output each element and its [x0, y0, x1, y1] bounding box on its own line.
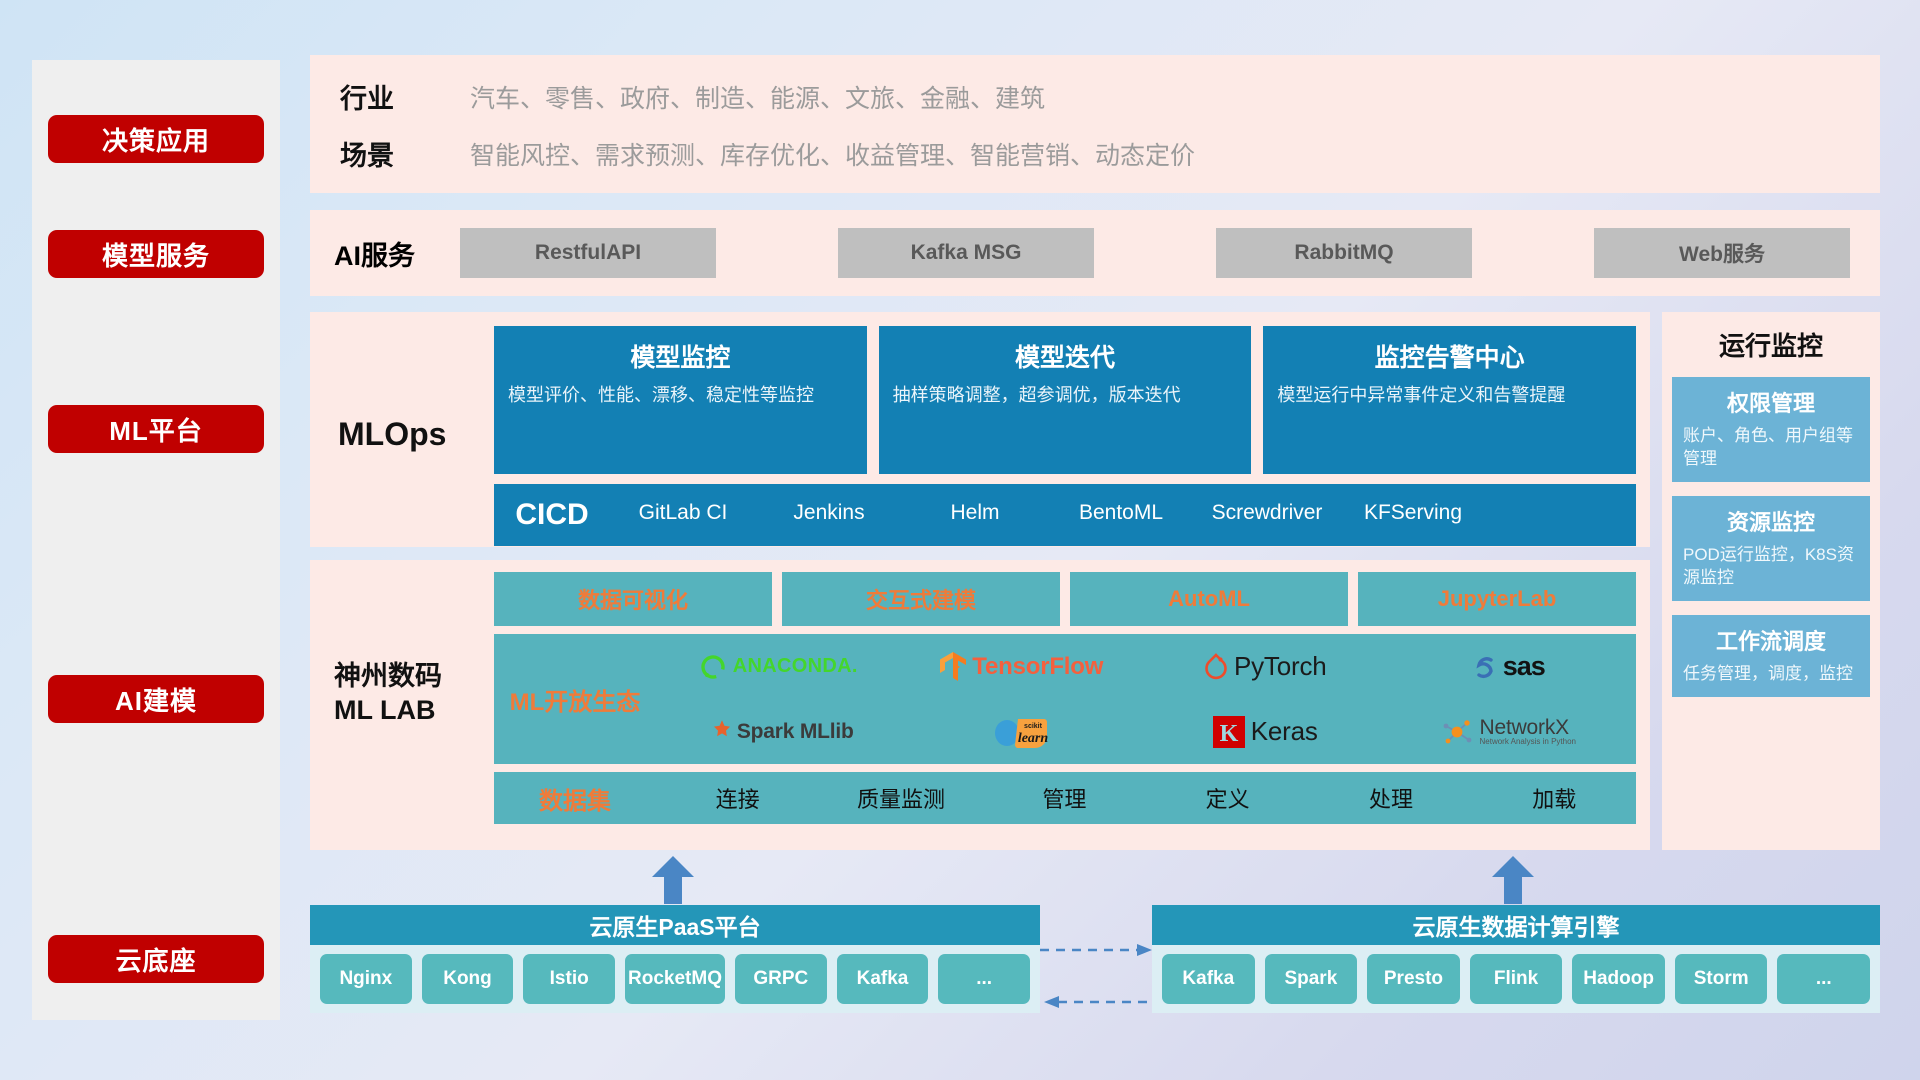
anaconda-logo: ANACONDA. [698, 652, 858, 682]
networkx-logo-text: NetworkX [1480, 717, 1577, 738]
cloud-native-data-engine-title: 云原生数据计算引擎 [1152, 905, 1880, 945]
mlops-card-model-monitoring[interactable]: 模型监控 模型评价、性能、漂移、稳定性等监控 [494, 326, 867, 474]
ecosystem-logo-grid: ANACONDA. TensorFlow [656, 634, 1636, 764]
monitoring-card-desc: 任务管理，调度，监控 [1683, 663, 1859, 686]
stage-chip-label: 模型服务 [102, 236, 210, 273]
cicd-bar: CICD GitLab CI Jenkins Helm BentoML Scre… [494, 484, 1636, 546]
mlops-card-desc: 模型运行中异常事件定义和告警提醒 [1277, 383, 1622, 407]
dataset-item-define[interactable]: 定义 [1146, 782, 1309, 814]
tool-chip-jupyterlab[interactable]: JupyterLab [1358, 572, 1636, 626]
monitoring-card-desc: 账户、角色、用户组等管理 [1683, 425, 1859, 471]
mlops-card-title: 模型监控 [508, 338, 853, 374]
mlops-card-list: 模型监控 模型评价、性能、漂移、稳定性等监控 模型迭代 抽样策略调整，超参调优，… [494, 326, 1636, 474]
monitoring-card-title: 权限管理 [1683, 386, 1859, 418]
stage-chip-ml-platform[interactable]: ML平台 [48, 405, 264, 453]
spark-mllib-logo-text: Spark MLlib [737, 720, 854, 744]
ai-service-panel: AI服务 RestfulAPI Kafka MSG RabbitMQ Web服务 [310, 210, 1880, 296]
architecture-diagram: 决策应用 模型服务 ML平台 AI建模 云底座 行业 汽车、零售、政府、制造、能… [0, 0, 1920, 1080]
stage-chip-cloud-base[interactable]: 云底座 [48, 935, 264, 983]
ai-service-restfulapi[interactable]: RestfulAPI [460, 228, 716, 278]
tensorflow-logo: TensorFlow [939, 651, 1103, 683]
monitoring-card-desc: POD运行监控，K8S资源监控 [1683, 544, 1859, 590]
cloud-chip-more[interactable]: ... [938, 954, 1030, 1004]
cloud-native-data-engine-chip-list: Kafka Spark Presto Flink Hadoop Storm ..… [1152, 945, 1880, 1013]
scenario-row: 场景 智能风控、需求预测、库存优化、收益管理、智能营销、动态定价 [340, 134, 1195, 173]
dashed-arrow-left-icon [1040, 992, 1156, 1012]
tool-chip-interactive-modeling[interactable]: 交互式建模 [782, 572, 1060, 626]
cloud-chip-grpc[interactable]: GRPC [735, 954, 827, 1004]
stage-chip-label: AI建模 [115, 681, 197, 718]
dataset-title: 数据集 [494, 781, 656, 816]
engine-chip-storm[interactable]: Storm [1675, 954, 1768, 1004]
mlops-card-alert-center[interactable]: 监控告警中心 模型运行中异常事件定义和告警提醒 [1263, 326, 1636, 474]
engine-chip-spark[interactable]: Spark [1265, 954, 1358, 1004]
mlops-panel: MLOps 模型监控 模型评价、性能、漂移、稳定性等监控 模型迭代 抽样策略调整… [310, 312, 1650, 547]
cloud-native-paas-chip-list: Nginx Kong Istio RocketMQ GRPC Kafka ... [310, 945, 1040, 1013]
dataset-item-quality[interactable]: 质量监测 [819, 782, 982, 814]
up-arrow-icon-engine [1490, 856, 1536, 900]
mlops-card-desc: 抽样策略调整，超参调优，版本迭代 [893, 383, 1238, 407]
sas-logo-text: sas [1503, 651, 1545, 682]
industry-label: 行业 [340, 77, 470, 116]
dataset-item-process[interactable]: 处理 [1309, 782, 1472, 814]
dashed-arrow-right-icon [1040, 940, 1156, 960]
runtime-monitoring-title: 运行监控 [1662, 312, 1880, 363]
ml-open-ecosystem-title: ML开放生态 [494, 682, 656, 717]
cloud-chip-kong[interactable]: Kong [422, 954, 514, 1004]
stage-chip-label: 决策应用 [102, 121, 210, 158]
stage-chip-ai-modeling[interactable]: AI建模 [48, 675, 264, 723]
scenario-label: 场景 [340, 134, 470, 173]
stage-chip-decision-app[interactable]: 决策应用 [48, 115, 264, 163]
up-arrow-icon-paas [650, 856, 696, 900]
ai-service-box-list: RestfulAPI Kafka MSG RabbitMQ Web服务 [460, 228, 1880, 278]
keras-logo-text: Keras [1251, 716, 1318, 747]
ai-service-rabbitmq[interactable]: RabbitMQ [1216, 228, 1472, 278]
engine-chip-kafka[interactable]: Kafka [1162, 954, 1255, 1004]
monitoring-card-permission[interactable]: 权限管理 账户、角色、用户组等管理 [1672, 377, 1870, 482]
networkx-logo: NetworkX Network Analysis in Python [1441, 717, 1577, 747]
dataset-item-manage[interactable]: 管理 [983, 782, 1146, 814]
cicd-item-gitlab-ci[interactable]: GitLab CI [610, 484, 756, 526]
mlops-card-title: 监控告警中心 [1277, 338, 1622, 374]
cloud-chip-kafka[interactable]: Kafka [837, 954, 929, 1004]
scenario-value: 智能风控、需求预测、库存优化、收益管理、智能营销、动态定价 [470, 136, 1195, 172]
spark-mllib-logo: Spark MLlib [702, 717, 854, 747]
monitoring-card-workflow[interactable]: 工作流调度 任务管理，调度，监控 [1672, 615, 1870, 697]
networkx-logo-tagline: Network Analysis in Python [1480, 738, 1577, 746]
svg-text:K: K [1219, 721, 1238, 747]
cicd-item-screwdriver[interactable]: Screwdriver [1194, 484, 1340, 526]
ml-lab-label: 神州数码 ML LAB [334, 660, 494, 728]
engine-chip-more[interactable]: ... [1777, 954, 1870, 1004]
ml-lab-label-line1: 神州数码 [334, 660, 494, 694]
sas-logo: sas [1472, 651, 1545, 682]
cloud-native-paas-title: 云原生PaaS平台 [310, 905, 1040, 945]
dataset-bar: 数据集 连接 质量监测 管理 定义 处理 加载 [494, 772, 1636, 824]
modeling-content: 数据可视化 交互式建模 AutoML JupyterLab ML开放生态 ANA… [494, 572, 1636, 824]
cloud-chip-nginx[interactable]: Nginx [320, 954, 412, 1004]
anaconda-logo-text: ANACONDA. [733, 655, 858, 678]
cicd-item-helm[interactable]: Helm [902, 484, 1048, 526]
ai-service-web[interactable]: Web服务 [1594, 228, 1850, 278]
industry-value: 汽车、零售、政府、制造、能源、文旅、金融、建筑 [470, 79, 1045, 115]
mlops-card-title: 模型迭代 [893, 338, 1238, 374]
cloud-native-data-engine-group: 云原生数据计算引擎 Kafka Spark Presto Flink Hadoo… [1152, 905, 1880, 1013]
mlops-card-desc: 模型评价、性能、漂移、稳定性等监控 [508, 383, 853, 407]
mlops-card-model-iteration[interactable]: 模型迭代 抽样策略调整，超参调优，版本迭代 [879, 326, 1252, 474]
cicd-item-jenkins[interactable]: Jenkins [756, 484, 902, 526]
monitoring-card-resource[interactable]: 资源监控 POD运行监控，K8S资源监控 [1672, 496, 1870, 601]
stage-chip-model-service[interactable]: 模型服务 [48, 230, 264, 278]
cicd-item-kfserving[interactable]: KFServing [1340, 484, 1486, 526]
engine-chip-hadoop[interactable]: Hadoop [1572, 954, 1665, 1004]
engine-chip-flink[interactable]: Flink [1470, 954, 1563, 1004]
tensorflow-logo-text: TensorFlow [972, 653, 1103, 681]
pytorch-logo: PyTorch [1203, 651, 1327, 682]
monitoring-card-title: 工作流调度 [1683, 624, 1859, 656]
ml-open-ecosystem-box: ML开放生态 ANACONDA. [494, 634, 1636, 764]
scikit-learn-logo: scikit learn [992, 715, 1050, 749]
ai-modeling-panel: 神州数码 ML LAB 数据可视化 交互式建模 AutoML JupyterLa… [310, 560, 1650, 850]
cicd-title: CICD [494, 484, 610, 546]
dataset-item-list: 连接 质量监测 管理 定义 处理 加载 [656, 782, 1636, 814]
ai-service-kafka-msg[interactable]: Kafka MSG [838, 228, 1094, 278]
svg-text:learn: learn [1018, 731, 1049, 746]
mlops-label: MLOps [338, 416, 488, 453]
industry-row: 行业 汽车、零售、政府、制造、能源、文旅、金融、建筑 [340, 77, 1045, 116]
stage-rail [32, 60, 280, 1020]
decision-application-panel: 行业 汽车、零售、政府、制造、能源、文旅、金融、建筑 场景 智能风控、需求预测、… [310, 55, 1880, 193]
engine-chip-presto[interactable]: Presto [1367, 954, 1460, 1004]
cloud-native-paas-group: 云原生PaaS平台 Nginx Kong Istio RocketMQ GRPC… [310, 905, 1040, 1013]
monitoring-card-title: 资源监控 [1683, 505, 1859, 537]
tool-chip-data-visualization[interactable]: 数据可视化 [494, 572, 772, 626]
cloud-chip-rocketmq[interactable]: RocketMQ [625, 954, 725, 1004]
ai-service-label: AI服务 [310, 234, 460, 273]
cloud-chip-istio[interactable]: Istio [523, 954, 615, 1004]
tool-chip-automl[interactable]: AutoML [1070, 572, 1348, 626]
modeling-tool-row: 数据可视化 交互式建模 AutoML JupyterLab [494, 572, 1636, 626]
stage-chip-label: 云底座 [115, 941, 196, 978]
runtime-monitoring-panel: 运行监控 权限管理 账户、角色、用户组等管理 资源监控 POD运行监控，K8S资… [1662, 312, 1880, 850]
stage-chip-label: ML平台 [109, 411, 203, 448]
dataset-item-load[interactable]: 加载 [1473, 782, 1636, 814]
keras-logo: K Keras [1212, 715, 1318, 749]
ml-lab-label-line2: ML LAB [334, 694, 494, 728]
cicd-item-bentoml[interactable]: BentoML [1048, 484, 1194, 526]
svg-text:scikit: scikit [1024, 723, 1043, 730]
pytorch-logo-text: PyTorch [1234, 651, 1327, 682]
dataset-item-connect[interactable]: 连接 [656, 782, 819, 814]
